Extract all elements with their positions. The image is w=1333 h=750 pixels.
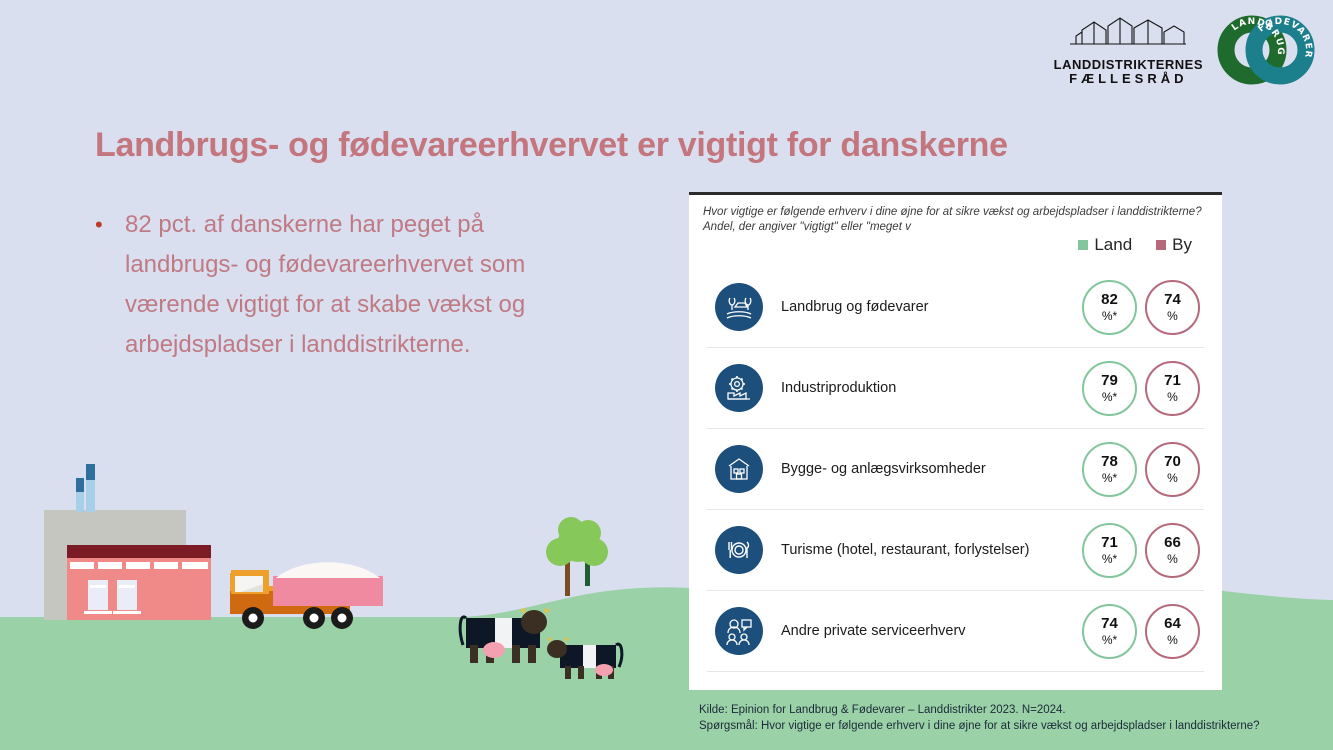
landbrug-foedevarer-logo: LANDBRUG FØDEVARER — [1217, 15, 1315, 85]
legend-label-land: Land — [1094, 235, 1132, 255]
farm-field-icon — [715, 283, 763, 331]
bullet-marker: • — [95, 205, 125, 365]
source-note: Kilde: Epinion for Landbrug & Fødevarer … — [699, 702, 1319, 734]
legend-item-land: Land — [1078, 235, 1132, 255]
village-houses-icon — [1068, 14, 1188, 58]
row-label: Landbrug og fødevarer — [763, 299, 1082, 315]
chart-question-line-1: Hvor vigtige er følgende erhverv i dine … — [703, 206, 1108, 218]
bullet-block: • 82 pct. af danskerne har peget på land… — [95, 205, 595, 365]
legend-swatch-land — [1078, 240, 1088, 250]
donut-by-unit: % — [1167, 390, 1178, 404]
restaurant-plate-icon — [715, 526, 763, 574]
donut-by-unit: % — [1167, 633, 1178, 647]
donut-by: 66 % — [1145, 523, 1200, 578]
donut-by-unit: % — [1167, 471, 1178, 485]
donut-land-value: 79 — [1101, 373, 1118, 388]
chart-panel: Hvor vigtige er følgende erhverv i dine … — [689, 192, 1222, 690]
legend-swatch-by — [1156, 240, 1166, 250]
row-values: 71 %* 66 % — [1082, 523, 1204, 578]
row-values: 79 %* 71 % — [1082, 361, 1204, 416]
donut-land-unit: %* — [1102, 390, 1117, 404]
chart-legend: Land By — [1078, 235, 1192, 255]
factory-windows-strip — [70, 562, 208, 569]
table-row: Industriproduktion 79 %* 71 % — [707, 348, 1204, 429]
donut-land: 71 %* — [1082, 523, 1137, 578]
donut-by: 74 % — [1145, 280, 1200, 335]
table-row: Turisme (hotel, restaurant, forlystelser… — [707, 510, 1204, 591]
table-row: Bygge- og anlægsvirksomheder 78 %* 70 % — [707, 429, 1204, 510]
donut-by-value: 74 — [1164, 292, 1181, 307]
donut-land-value: 71 — [1101, 535, 1118, 550]
logo-zone: LANDDISTRIKTERNES FÆLLESRÅD LANDBRUG FØD… — [1054, 14, 1315, 86]
landdistrikternes-faellesraad-logo: LANDDISTRIKTERNES FÆLLESRÅD — [1054, 14, 1203, 86]
row-label: Industriproduktion — [763, 380, 1082, 396]
logo-wordmark: LANDDISTRIKTERNES FÆLLESRÅD — [1054, 58, 1203, 86]
donut-land-value: 74 — [1101, 616, 1118, 631]
donut-by-value: 66 — [1164, 535, 1181, 550]
people-service-icon — [715, 607, 763, 655]
chimney-small — [76, 490, 84, 512]
chimney-large-top — [86, 464, 95, 480]
bullet-text: 82 pct. af danskerne har peget på landbr… — [125, 205, 595, 365]
donut-land-unit: %* — [1102, 633, 1117, 647]
legend-item-by: By — [1156, 235, 1192, 255]
row-label: Turisme (hotel, restaurant, forlystelser… — [763, 542, 1082, 558]
chart-rows: Landbrug og fødevarer 82 %* 74 % — [707, 267, 1204, 672]
page-title: Landbrugs- og fødevareerhvervet er vigti… — [95, 126, 1215, 165]
donut-by-value: 70 — [1164, 454, 1181, 469]
building-house-icon — [715, 445, 763, 493]
chart-question: Hvor vigtige er følgende erhverv i dine … — [703, 205, 1208, 235]
row-label: Andre private serviceerhverv — [763, 623, 1082, 639]
donut-land-value: 78 — [1101, 454, 1118, 469]
gear-factory-icon — [715, 364, 763, 412]
donut-land-value: 82 — [1101, 292, 1118, 307]
factory-roof — [67, 545, 211, 558]
donut-by: 64 % — [1145, 604, 1200, 659]
donut-by-value: 71 — [1164, 373, 1181, 388]
donut-land-unit: %* — [1102, 471, 1117, 485]
table-row: Andre private serviceerhverv 74 %* 64 % — [707, 591, 1204, 672]
donut-by: 71 % — [1145, 361, 1200, 416]
donut-land: 79 %* — [1082, 361, 1137, 416]
donut-by: 70 % — [1145, 442, 1200, 497]
donut-by-unit: % — [1167, 309, 1178, 323]
chimney-small-top — [76, 478, 84, 492]
chimney-large — [86, 478, 95, 512]
logo-line-2: FÆLLESRÅD — [1054, 72, 1203, 86]
legend-label-by: By — [1172, 235, 1192, 255]
source-line-1: Kilde: Epinion for Landbrug & Fødevarer … — [699, 702, 1319, 718]
donut-land: 82 %* — [1082, 280, 1137, 335]
row-values: 82 %* 74 % — [1082, 280, 1204, 335]
donut-by-value: 64 — [1164, 616, 1181, 631]
table-row: Landbrug og fødevarer 82 %* 74 % — [707, 267, 1204, 348]
donut-land: 74 %* — [1082, 604, 1137, 659]
row-values: 78 %* 70 % — [1082, 442, 1204, 497]
row-label: Bygge- og anlægsvirksomheder — [763, 461, 1082, 477]
donut-land-unit: %* — [1102, 552, 1117, 566]
row-values: 74 %* 64 % — [1082, 604, 1204, 659]
donut-by-unit: % — [1167, 552, 1178, 566]
source-line-2: Spørgsmål: Hvor vigtige er følgende erhv… — [699, 718, 1319, 734]
donut-land: 78 %* — [1082, 442, 1137, 497]
donut-land-unit: %* — [1102, 309, 1117, 323]
logo-line-1: LANDDISTRIKTERNES — [1054, 58, 1203, 72]
